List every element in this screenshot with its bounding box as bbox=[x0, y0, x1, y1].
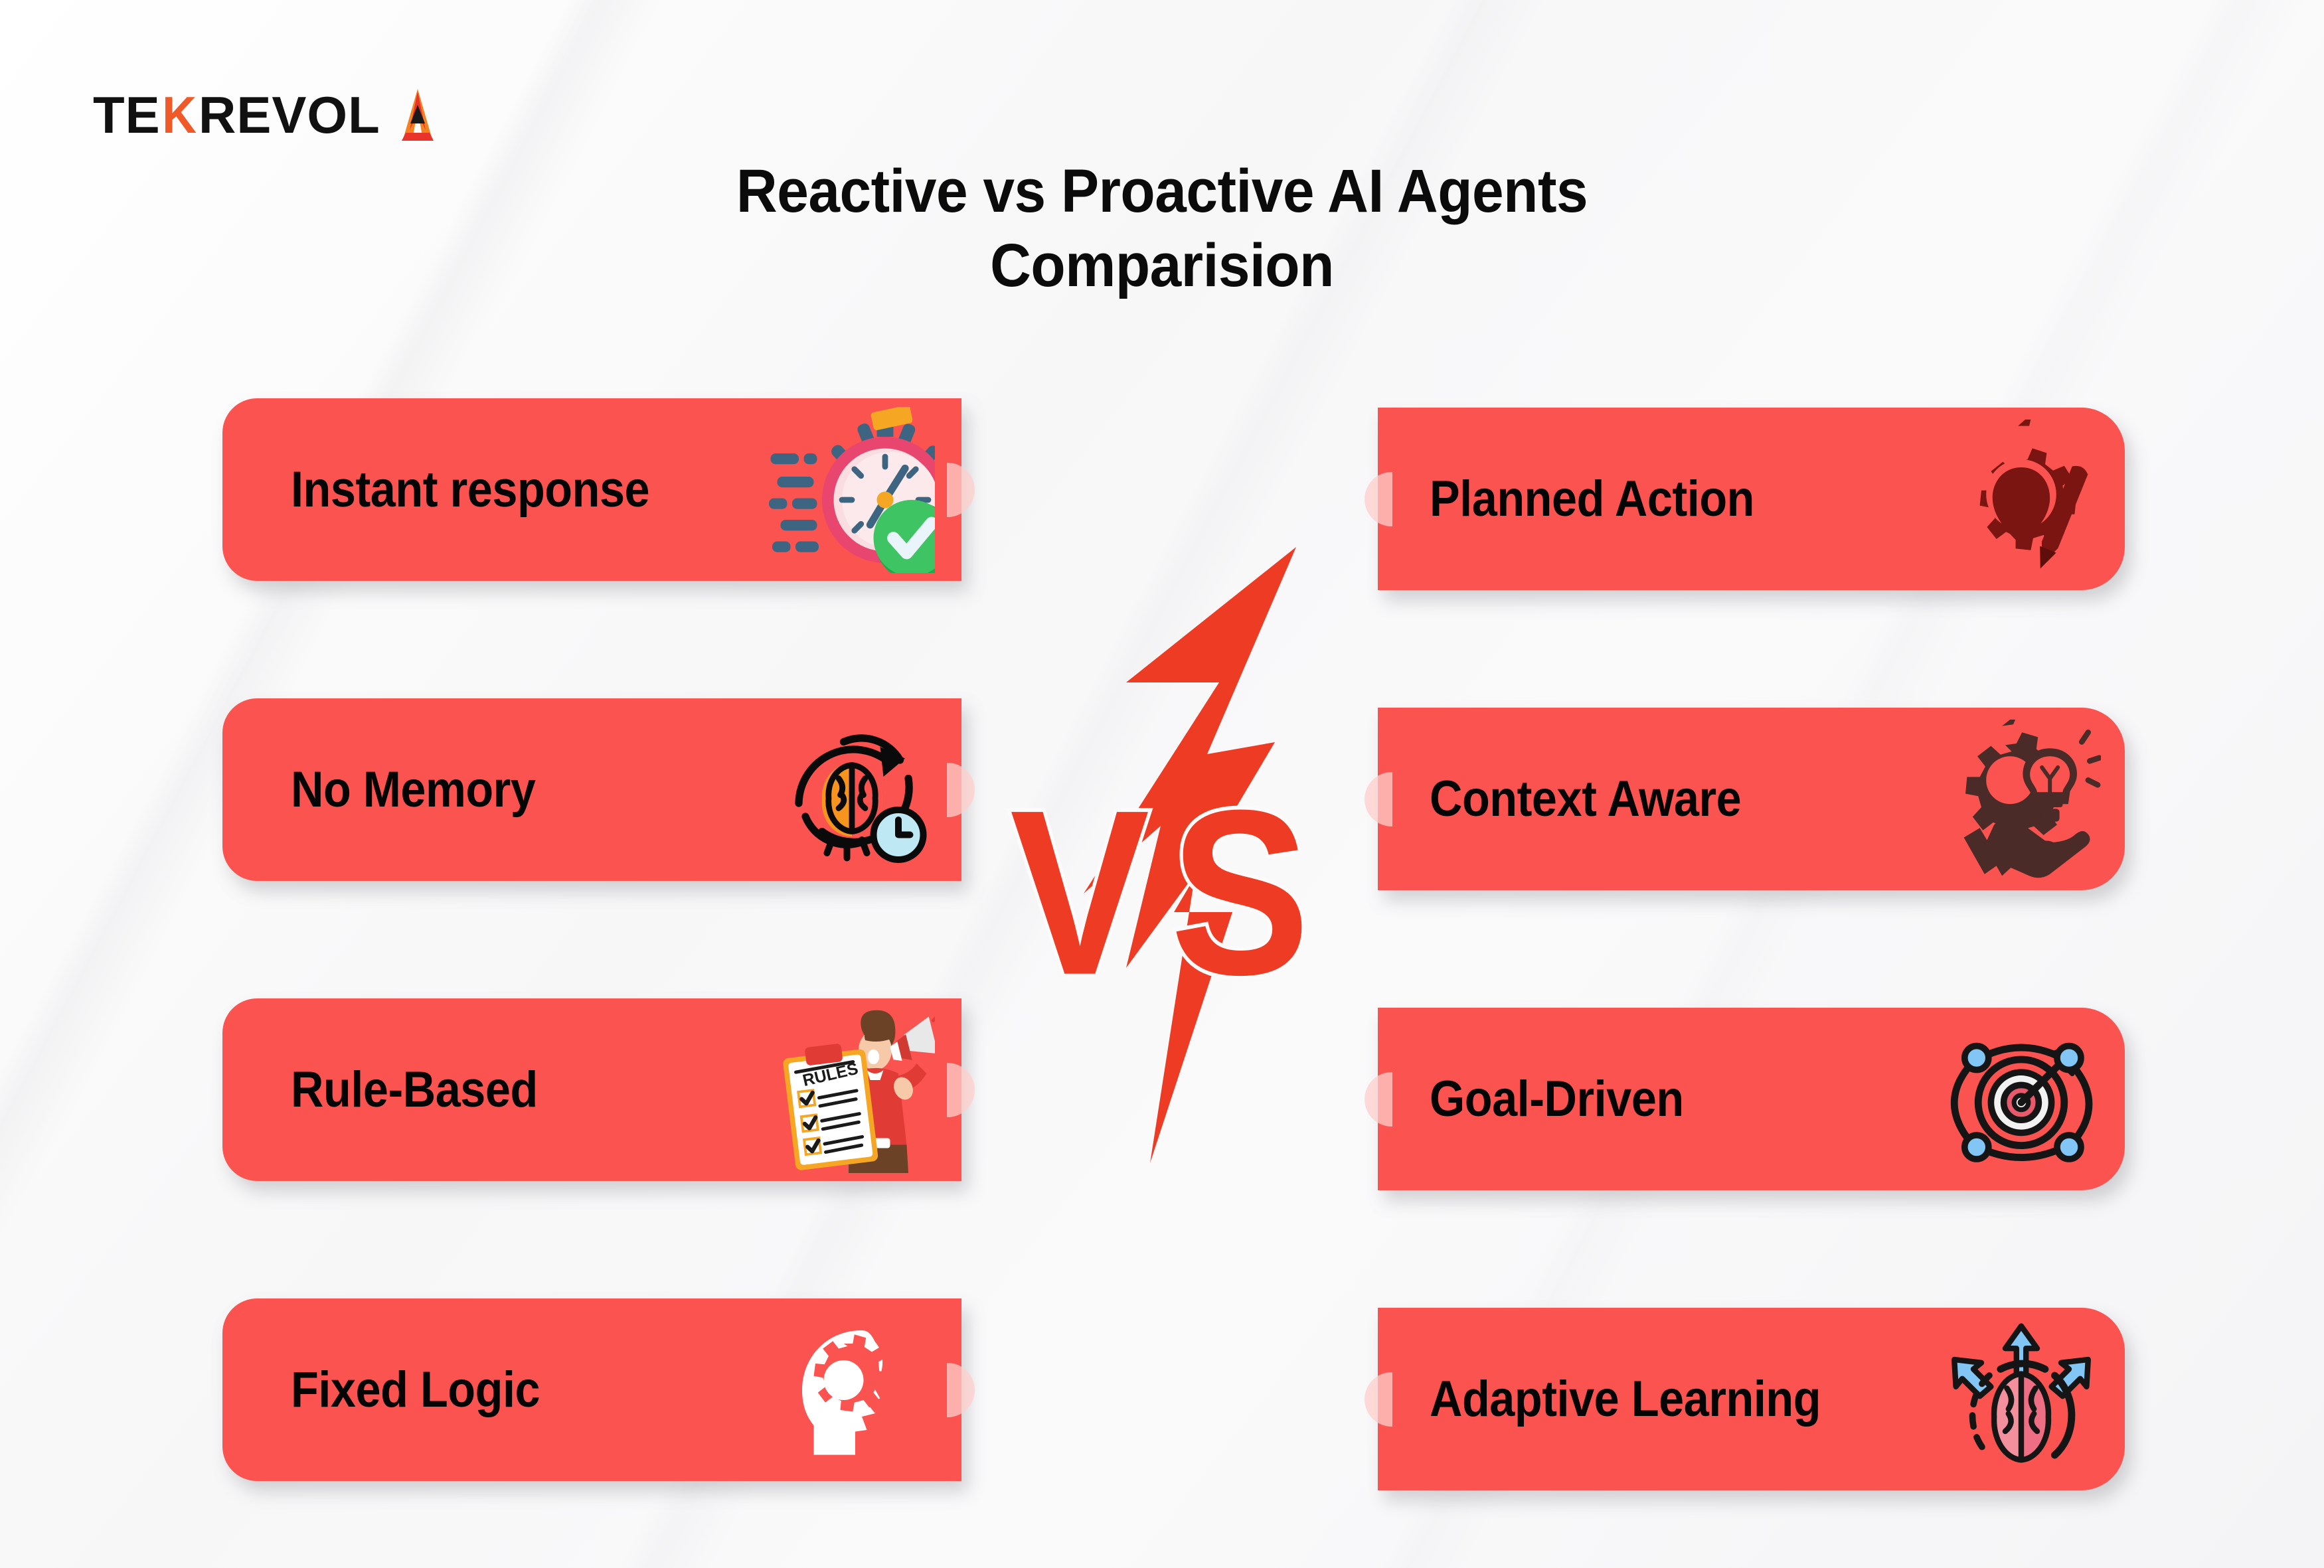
card-label: No Memory bbox=[291, 765, 535, 815]
brand-wordmark: TEKREVOL bbox=[93, 89, 380, 141]
brand-name-part1: TE bbox=[93, 89, 161, 141]
reactive-column: Instant response bbox=[222, 398, 961, 1481]
alarm-clock-check-icon bbox=[769, 407, 935, 573]
card-label: Instant response bbox=[291, 465, 649, 515]
card-fixed-logic[interactable]: Fixed Logic bbox=[222, 1298, 961, 1481]
card-label: Planned Action bbox=[1430, 474, 1754, 524]
card-notch bbox=[1365, 1072, 1392, 1127]
card-planned-action[interactable]: Planned Action bbox=[1378, 408, 2125, 590]
card-label: Fixed Logic bbox=[291, 1365, 540, 1415]
vs-divider: V S bbox=[996, 531, 1368, 1195]
brand-name-part2: REVOL bbox=[199, 89, 380, 141]
page-title: Reactive vs Proactive AI Agents Comparis… bbox=[0, 154, 2324, 303]
brand-logo: TEKREVOL bbox=[93, 88, 446, 142]
card-notch bbox=[1365, 772, 1392, 826]
card-notch bbox=[1365, 472, 1392, 526]
target-arrow-orbit-icon bbox=[1942, 1020, 2101, 1179]
card-no-memory[interactable]: No Memory bbox=[222, 698, 961, 881]
gear-pencil-icon bbox=[1942, 420, 2101, 579]
card-notch bbox=[947, 763, 975, 817]
card-adaptive-learning[interactable]: Adaptive Learning bbox=[1378, 1308, 2125, 1490]
title-line-1: Reactive vs Proactive AI Agents bbox=[82, 154, 2243, 228]
triangle-peak-icon bbox=[390, 88, 446, 142]
svg-text:V: V bbox=[1010, 762, 1151, 1024]
gear-lightbulb-hand-icon bbox=[1942, 720, 2101, 879]
title-line-2: Comparision bbox=[82, 228, 2243, 303]
card-context-aware[interactable]: Context Aware bbox=[1378, 708, 2125, 890]
brand-name-k: K bbox=[162, 89, 197, 141]
card-label: Rule-Based bbox=[291, 1065, 538, 1115]
card-goal-driven[interactable]: Goal-Driven bbox=[1378, 1008, 2125, 1190]
card-instant-response[interactable]: Instant response bbox=[222, 398, 961, 581]
proactive-column: Planned Action Context Aware bbox=[1378, 408, 2125, 1490]
card-rule-based[interactable]: Rule-Based bbox=[222, 998, 961, 1181]
brain-arrows-icon bbox=[1942, 1320, 2101, 1479]
card-label: Context Aware bbox=[1430, 774, 1741, 824]
card-label: Goal-Driven bbox=[1430, 1074, 1684, 1125]
card-label: Adaptive Learning bbox=[1430, 1374, 1821, 1425]
head-gear-icon bbox=[769, 1307, 935, 1473]
lightning-bolt-icon: V S bbox=[996, 531, 1368, 1195]
card-notch bbox=[1365, 1372, 1392, 1427]
card-notch bbox=[947, 1063, 975, 1117]
card-notch bbox=[947, 1363, 975, 1417]
card-notch bbox=[947, 463, 975, 517]
brain-refresh-clock-icon bbox=[769, 707, 935, 873]
person-rules-clipboard-megaphone-icon: RULES bbox=[769, 1007, 935, 1173]
